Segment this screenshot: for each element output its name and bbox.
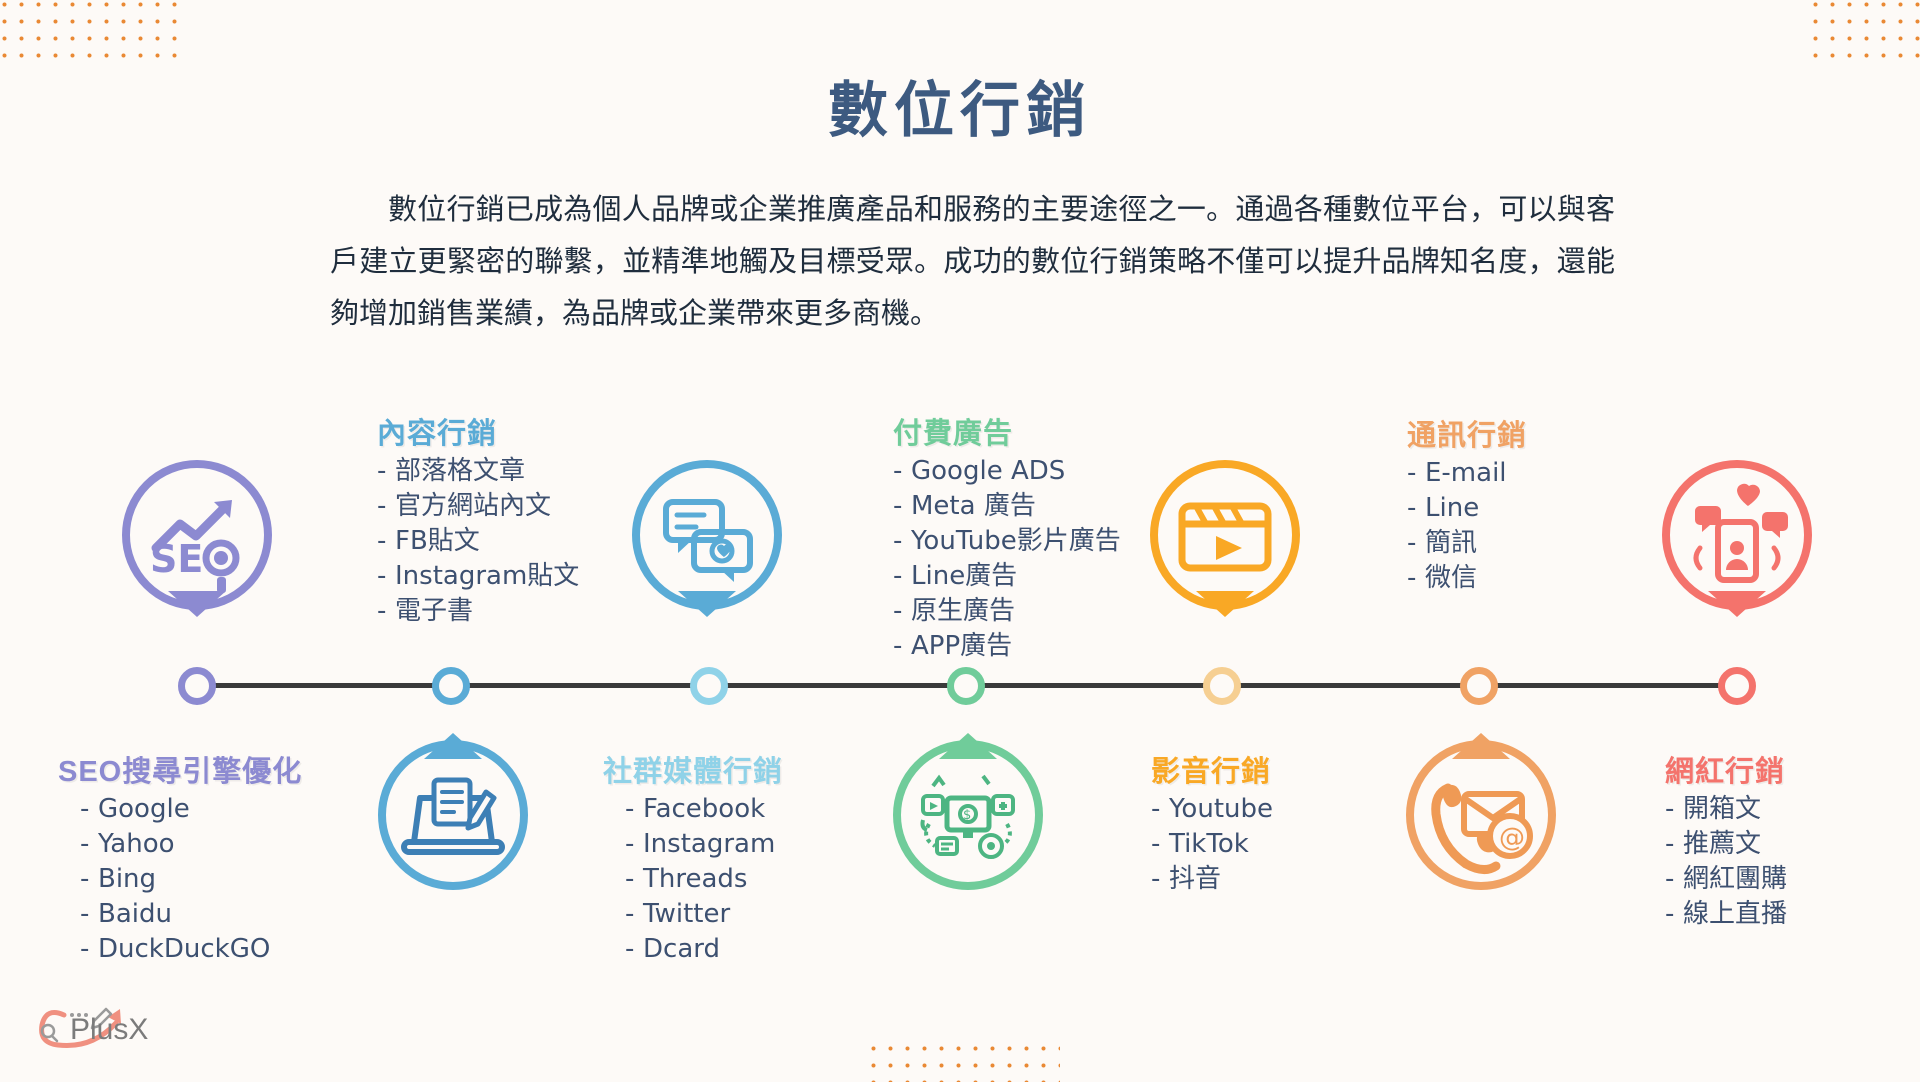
section-block-social: 社群媒體行銷 -Facebook -Instagram -Threads -Tw… <box>603 748 783 967</box>
infographic-canvas: 數位行銷 數位行銷已成為個人品牌或企業推廣產品和服務的主要途徑之一。通過各種數位… <box>0 0 1920 1080</box>
ads-network-icon: $ <box>893 740 1043 890</box>
list-item: -Google <box>80 792 302 827</box>
list-item: -電子書 <box>377 594 579 629</box>
section-heading-paid: 付費廣告 <box>893 410 1121 452</box>
list-item: -DuckDuckGO <box>80 932 302 967</box>
pin-influencer[interactable] <box>1662 460 1812 610</box>
list-item: -Facebook <box>625 792 783 827</box>
section-heading-seo: SEO搜尋引擎優化 <box>58 748 302 790</box>
list-item: -線上直播 <box>1665 897 1787 932</box>
dot-pattern-bottom <box>865 1040 1060 1082</box>
list-item: -微信 <box>1407 561 1527 596</box>
list-item: -推薦文 <box>1665 827 1787 862</box>
section-block-messaging: 通訊行銷 -E-mail -Line -簡訊 -微信 <box>1407 412 1527 596</box>
pin-social[interactable] <box>378 740 528 890</box>
section-list-seo: -Google -Yahoo -Bing -Baidu -DuckDuckGO <box>58 792 302 967</box>
section-heading-video: 影音行銷 <box>1151 748 1273 790</box>
section-list-content: -部落格文章 -官方網站內文 -FB貼文 -Instagram貼文 -電子書 <box>377 454 579 629</box>
list-item: -Meta 廣告 <box>893 489 1121 524</box>
dot-pattern-top-left <box>0 0 186 66</box>
timeline-node-influencer[interactable] <box>1718 667 1756 705</box>
svg-text:$: $ <box>963 808 971 823</box>
section-list-video: -Youtube -TikTok -抖音 <box>1151 792 1273 897</box>
svg-text:@: @ <box>1499 823 1525 853</box>
timeline-node-messaging[interactable] <box>1460 667 1498 705</box>
list-item: -Instagram貼文 <box>377 559 579 594</box>
section-block-content: 內容行銷 -部落格文章 -官方網站內文 -FB貼文 -Instagram貼文 -… <box>377 410 579 629</box>
list-item: -APP廣告 <box>893 629 1121 664</box>
list-item: -E-mail <box>1407 456 1527 491</box>
list-item: -Threads <box>625 862 783 897</box>
list-item: -FB貼文 <box>377 524 579 559</box>
timeline-node-seo[interactable] <box>178 667 216 705</box>
section-heading-social: 社群媒體行銷 <box>603 748 783 790</box>
timeline-node-social[interactable] <box>690 667 728 705</box>
list-item: -Baidu <box>80 897 302 932</box>
list-item: -原生廣告 <box>893 594 1121 629</box>
section-list-social: -Facebook -Instagram -Threads -Twitter -… <box>603 792 783 967</box>
section-block-paid: 付費廣告 -Google ADS -Meta 廣告 -YouTube影片廣告 -… <box>893 410 1121 664</box>
pin-messaging[interactable]: @ <box>1406 740 1556 890</box>
mobile-heart-icon <box>1662 460 1812 610</box>
list-item: -抖音 <box>1151 862 1273 897</box>
plusx-logo: PlusX <box>22 995 172 1067</box>
list-item: -TikTok <box>1151 827 1273 862</box>
section-heading-influencer: 網紅行銷 <box>1665 748 1787 790</box>
list-item: -Dcard <box>625 932 783 967</box>
pin-ads-network[interactable]: $ <box>893 740 1043 890</box>
svg-text:SE: SE <box>150 537 203 581</box>
list-item: -Instagram <box>625 827 783 862</box>
list-item: -簡訊 <box>1407 526 1527 561</box>
list-item: -部落格文章 <box>377 454 579 489</box>
section-block-seo: SEO搜尋引擎優化 -Google -Yahoo -Bing -Baidu -D… <box>58 748 302 967</box>
video-player-icon <box>1150 460 1300 610</box>
section-list-messaging: -E-mail -Line -簡訊 -微信 <box>1407 456 1527 596</box>
list-item: -YouTube影片廣告 <box>893 524 1121 559</box>
section-heading-messaging: 通訊行銷 <box>1407 412 1527 454</box>
list-item: -Yahoo <box>80 827 302 862</box>
dot-pattern-top-right <box>1807 0 1920 58</box>
laptop-pen-icon <box>378 740 528 890</box>
seo-arrow-magnifier-icon: SE <box>122 460 272 610</box>
list-item: -官方網站內文 <box>377 489 579 524</box>
page-title: 數位行銷 <box>0 62 1920 149</box>
list-item: -Line <box>1407 491 1527 526</box>
pin-seo[interactable]: SE <box>122 460 272 610</box>
list-item: -網紅團購 <box>1665 862 1787 897</box>
section-list-influencer: -開箱文 -推薦文 -網紅團購 -線上直播 <box>1665 792 1787 932</box>
phone-email-icon: @ <box>1406 740 1556 890</box>
pin-content[interactable] <box>632 460 782 610</box>
list-item: -Youtube <box>1151 792 1273 827</box>
intro-paragraph: 數位行銷已成為個人品牌或企業推廣產品和服務的主要途徑之一。通過各種數位平台，可以… <box>330 183 1615 339</box>
list-item: -開箱文 <box>1665 792 1787 827</box>
section-block-influencer: 網紅行銷 -開箱文 -推薦文 -網紅團購 -線上直播 <box>1665 748 1787 932</box>
timeline-node-paid[interactable] <box>947 667 985 705</box>
list-item: -Twitter <box>625 897 783 932</box>
section-block-video: 影音行銷 -Youtube -TikTok -抖音 <box>1151 748 1273 897</box>
pin-paid[interactable] <box>1150 460 1300 610</box>
list-item: -Google ADS <box>893 454 1121 489</box>
list-item: -Line廣告 <box>893 559 1121 594</box>
timeline-node-content[interactable] <box>432 667 470 705</box>
section-heading-content: 內容行銷 <box>377 410 579 452</box>
timeline-node-video[interactable] <box>1203 667 1241 705</box>
list-item: -Bing <box>80 862 302 897</box>
chat-bubbles-icon <box>632 460 782 610</box>
logo-wordmark: PlusX <box>70 1013 148 1047</box>
section-list-paid: -Google ADS -Meta 廣告 -YouTube影片廣告 -Line廣… <box>893 454 1121 664</box>
